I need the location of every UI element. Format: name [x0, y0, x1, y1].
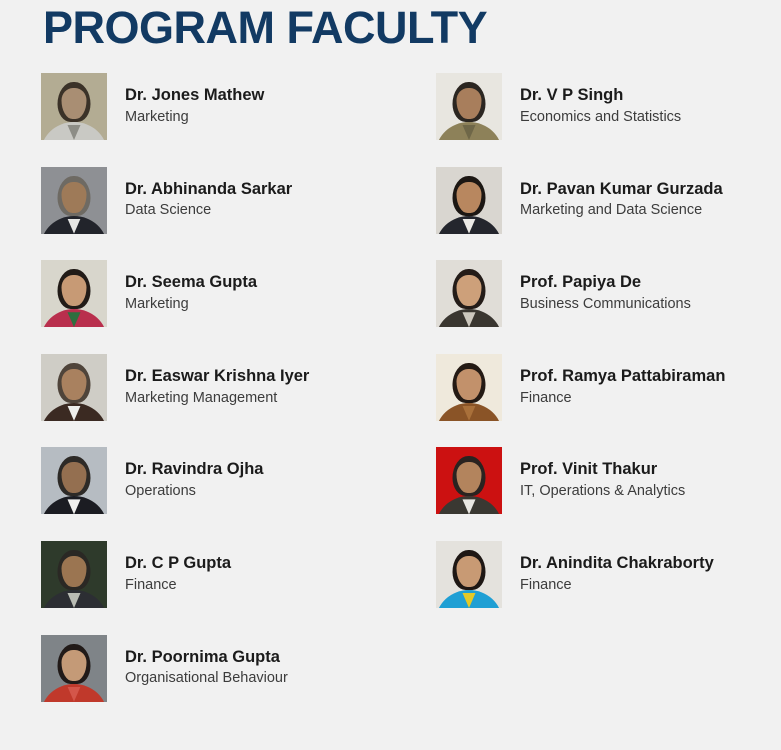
faculty-card: Dr. Anindita ChakrabortyFinance [436, 541, 781, 635]
faculty-name: Dr. Jones Mathew [125, 86, 264, 106]
faculty-name: Dr. Abhinanda Sarkar [125, 180, 292, 200]
faculty-card: Prof. Ramya PattabiramanFinance [436, 354, 781, 448]
faculty-name: Dr. Pavan Kumar Gurzada [520, 180, 723, 200]
faculty-department: Business Communications [520, 295, 691, 315]
portrait-face [62, 369, 87, 400]
faculty-column-left: Dr. Jones MathewMarketingDr. Abhinanda S… [41, 73, 421, 728]
portrait-face [62, 556, 87, 587]
faculty-name: Prof. Ramya Pattabiraman [520, 367, 725, 387]
faculty-card: Dr. Easwar Krishna IyerMarketing Managem… [41, 354, 421, 448]
faculty-name: Dr. Anindita Chakraborty [520, 554, 714, 574]
portrait-face [457, 369, 482, 400]
faculty-name: Dr. Seema Gupta [125, 273, 257, 293]
portrait-face [62, 462, 87, 493]
portrait-ramya-pattabiraman [436, 354, 502, 421]
faculty-info: Dr. Easwar Krishna IyerMarketing Managem… [125, 354, 309, 408]
faculty-department: Finance [125, 576, 231, 596]
faculty-card: Dr. Abhinanda SarkarData Science [41, 167, 421, 261]
faculty-info: Prof. Papiya DeBusiness Communications [520, 260, 691, 314]
faculty-info: Dr. Poornima GuptaOrganisational Behavio… [125, 635, 288, 689]
faculty-department: Marketing and Data Science [520, 201, 723, 221]
portrait-seema-gupta [41, 260, 107, 327]
faculty-info: Dr. Seema GuptaMarketing [125, 260, 257, 314]
portrait-ravindra-ojha [41, 447, 107, 514]
faculty-info: Dr. V P SinghEconomics and Statistics [520, 73, 681, 127]
faculty-card: Prof. Vinit ThakurIT, Operations & Analy… [436, 447, 781, 541]
faculty-name: Dr. V P Singh [520, 86, 681, 106]
faculty-card: Dr. Poornima GuptaOrganisational Behavio… [41, 635, 421, 729]
faculty-name: Prof. Papiya De [520, 273, 691, 293]
faculty-department: IT, Operations & Analytics [520, 482, 685, 502]
faculty-info: Prof. Vinit ThakurIT, Operations & Analy… [520, 447, 685, 501]
faculty-department: Data Science [125, 201, 292, 221]
portrait-face [62, 650, 87, 681]
faculty-info: Dr. Jones MathewMarketing [125, 73, 264, 127]
portrait-papiya-de [436, 260, 502, 327]
faculty-department: Marketing Management [125, 389, 309, 409]
portrait-pavan-kumar-gurzada [436, 167, 502, 234]
faculty-department: Marketing [125, 295, 257, 315]
faculty-info: Prof. Ramya PattabiramanFinance [520, 354, 725, 408]
faculty-card: Dr. Seema GuptaMarketing [41, 260, 421, 354]
faculty-department: Marketing [125, 108, 264, 128]
faculty-card: Dr. Jones MathewMarketing [41, 73, 421, 167]
faculty-info: Dr. Pavan Kumar GurzadaMarketing and Dat… [520, 167, 723, 221]
portrait-jones-mathew [41, 73, 107, 140]
faculty-card: Prof. Papiya DeBusiness Communications [436, 260, 781, 354]
portrait-c-p-gupta [41, 541, 107, 608]
faculty-department: Finance [520, 576, 714, 596]
faculty-department: Organisational Behaviour [125, 669, 288, 689]
faculty-card: Dr. Pavan Kumar GurzadaMarketing and Dat… [436, 167, 781, 261]
portrait-face [62, 275, 87, 306]
faculty-info: Dr. C P GuptaFinance [125, 541, 231, 595]
faculty-department: Finance [520, 389, 725, 409]
portrait-face [457, 88, 482, 119]
portrait-v-p-singh [436, 73, 502, 140]
portrait-face [457, 182, 482, 213]
faculty-card: Dr. V P SinghEconomics and Statistics [436, 73, 781, 167]
faculty-card: Dr. C P GuptaFinance [41, 541, 421, 635]
faculty-info: Dr. Ravindra OjhaOperations [125, 447, 263, 501]
faculty-department: Operations [125, 482, 263, 502]
portrait-poornima-gupta [41, 635, 107, 702]
faculty-name: Dr. Poornima Gupta [125, 648, 288, 668]
portrait-face [62, 88, 87, 119]
faculty-name: Dr. Easwar Krishna Iyer [125, 367, 309, 387]
portrait-face [62, 182, 87, 213]
faculty-department: Economics and Statistics [520, 108, 681, 128]
faculty-name: Dr. Ravindra Ojha [125, 460, 263, 480]
portrait-face [457, 275, 482, 306]
portrait-face [457, 556, 482, 587]
faculty-info: Dr. Abhinanda SarkarData Science [125, 167, 292, 221]
portrait-vinit-thakur [436, 447, 502, 514]
portrait-easwar-krishna-iyer [41, 354, 107, 421]
portrait-abhinanda-sarkar [41, 167, 107, 234]
faculty-name: Dr. C P Gupta [125, 554, 231, 574]
faculty-card: Dr. Ravindra OjhaOperations [41, 447, 421, 541]
faculty-info: Dr. Anindita ChakrabortyFinance [520, 541, 714, 595]
portrait-face [457, 462, 482, 493]
page-title: PROGRAM FACULTY [43, 5, 487, 50]
faculty-name: Prof. Vinit Thakur [520, 460, 685, 480]
faculty-column-right: Dr. V P SinghEconomics and StatisticsDr.… [436, 73, 781, 635]
portrait-anindita-chakraborty [436, 541, 502, 608]
